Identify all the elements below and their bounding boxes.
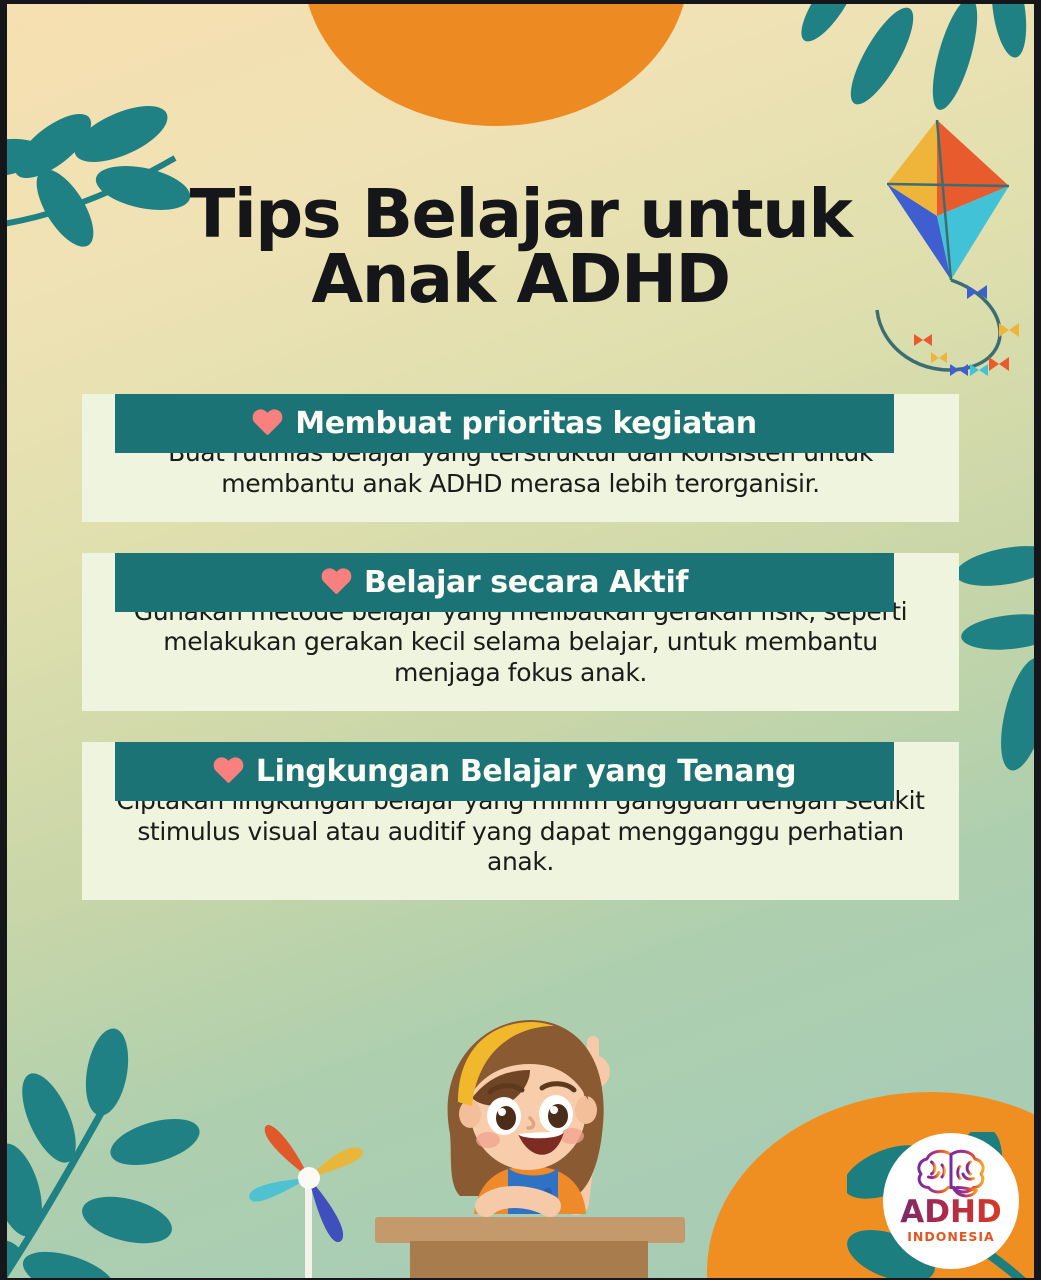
leaf-branch-icon <box>0 1014 247 1280</box>
pinwheel-icon <box>239 1102 379 1280</box>
girl-raising-hand-illustration <box>390 1006 670 1280</box>
tip-card-heading: Lingkungan Belajar yang Tenang <box>256 754 796 789</box>
heart-icon <box>252 410 282 437</box>
tip-card: Lingkungan Belajar yang Tenang Ciptakan … <box>7 742 1034 900</box>
desk-top <box>375 1217 685 1243</box>
adhd-indonesia-logo: ADHD INDONESIA <box>883 1133 1019 1269</box>
girl-illustration-icon <box>390 1006 670 1246</box>
leaf-branch-top-right <box>787 0 1037 118</box>
tip-card-header: Belajar secara Aktif <box>115 553 894 612</box>
brain-icon <box>913 1147 989 1201</box>
tips-card-list: Membuat prioritas kegiatan Buat rutinias… <box>7 394 1034 931</box>
logo-subtitle: INDONESIA <box>907 1229 994 1244</box>
desk-front <box>410 1241 648 1280</box>
tip-card: Belajar secara Aktif Gunakan metode bela… <box>7 553 1034 711</box>
tip-card-header: Lingkungan Belajar yang Tenang <box>115 742 894 801</box>
heart-icon <box>321 569 351 596</box>
leaf-branch-bottom-left <box>0 1014 247 1280</box>
infographic-poster: Tips Belajar untuk Anak ADHD Membuat pri… <box>0 0 1041 1280</box>
tip-card-heading: Membuat prioritas kegiatan <box>295 406 757 441</box>
tip-card-heading: Belajar secara Aktif <box>364 565 688 600</box>
tip-card: Membuat prioritas kegiatan Buat rutinias… <box>7 394 1034 522</box>
title-line-2: Anak ADHD <box>7 247 1034 312</box>
page-title: Tips Belajar untuk Anak ADHD <box>7 182 1034 312</box>
logo-title: ADHD <box>900 1197 1001 1228</box>
heart-icon <box>213 758 243 785</box>
tip-card-header: Membuat prioritas kegiatan <box>115 394 894 453</box>
orange-circle-decoration <box>303 0 689 126</box>
leaf-branch-icon <box>787 0 1037 118</box>
